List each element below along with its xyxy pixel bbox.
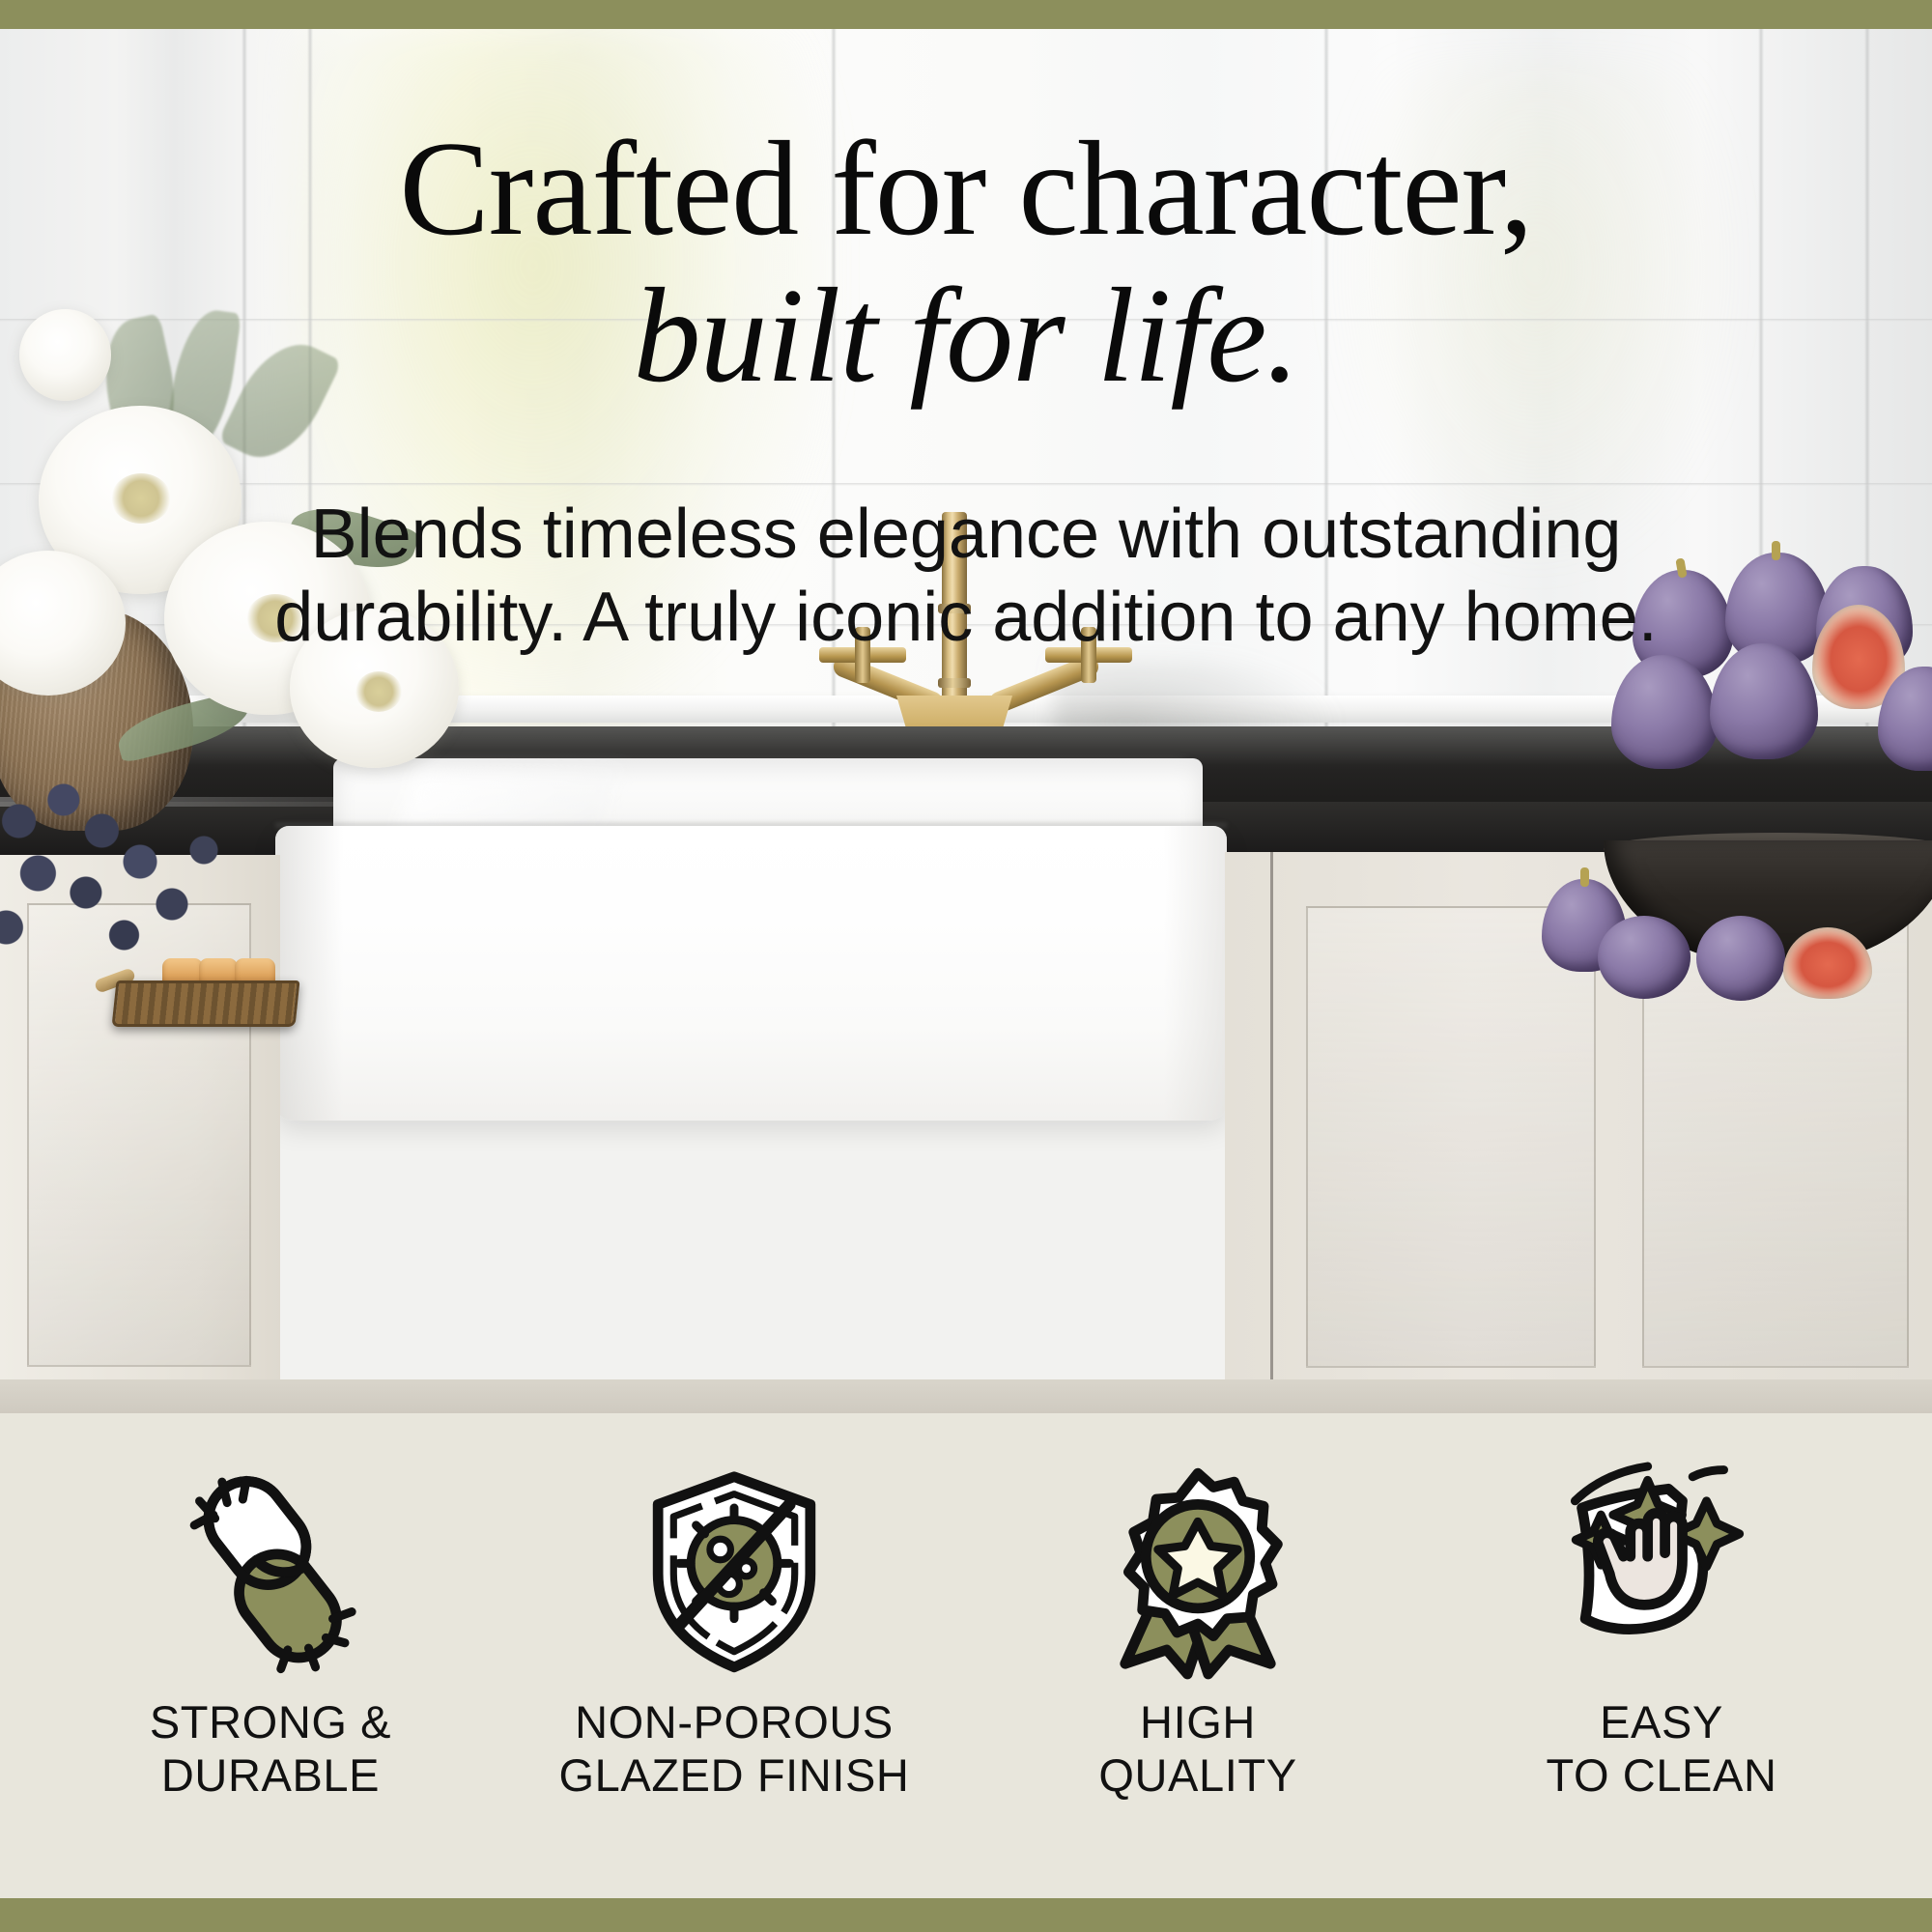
headline-block: Crafted for character, built for life. <box>0 121 1932 412</box>
feature-strip: STRONG & DURABLE <box>0 1413 1932 1898</box>
shiplap-seam <box>0 483 1932 486</box>
award-ribbon-icon <box>1082 1466 1314 1674</box>
feature-label: NON-POROUS GLAZED FINISH <box>559 1695 910 1803</box>
sink-apron-front <box>275 826 1227 1121</box>
feature-item-high-quality: HIGH QUALITY <box>990 1466 1406 1803</box>
product-feature-banner: Crafted for character, built for life. B… <box>0 0 1932 1932</box>
feature-label: HIGH QUALITY <box>1098 1695 1296 1803</box>
fig-stem <box>1772 541 1780 560</box>
headline-line-2: built for life. <box>0 259 1932 413</box>
cabinet-toekick <box>0 1379 1932 1413</box>
chain-link-icon <box>155 1466 386 1674</box>
fig-on-counter <box>1696 916 1785 1001</box>
top-accent-rule <box>0 0 1932 29</box>
bottom-accent-rule <box>0 1898 1932 1932</box>
fig-stem <box>1580 867 1589 887</box>
feature-item-non-porous: NON-POROUS GLAZED FINISH <box>526 1466 942 1803</box>
sink-apron-right-bevel <box>1164 826 1227 1121</box>
wipe-cloth-icon <box>1546 1466 1777 1674</box>
feature-item-strong-durable: STRONG & DURABLE <box>63 1466 478 1803</box>
bread-basket <box>111 980 299 1027</box>
feature-label: STRONG & DURABLE <box>150 1695 391 1803</box>
sink-gloss-highlight <box>396 773 617 831</box>
headline-line-1: Crafted for character, <box>0 121 1932 259</box>
feature-label: EASY TO CLEAN <box>1547 1695 1777 1803</box>
shield-germ-icon <box>618 1466 850 1674</box>
fig-on-counter <box>1598 916 1690 999</box>
cabinet-seam <box>1270 852 1273 1413</box>
peony-center <box>355 671 402 712</box>
dark-berries <box>0 773 299 966</box>
subheadline: Blends timeless elegance with outstandin… <box>174 493 1758 660</box>
faucet-band <box>938 678 971 688</box>
kitchen-scene-photo: Crafted for character, built for life. B… <box>0 29 1932 1413</box>
feature-item-easy-to-clean: EASY TO CLEAN <box>1454 1466 1869 1803</box>
cabinet-right-panel-a <box>1306 906 1596 1368</box>
peony-center <box>111 473 171 524</box>
